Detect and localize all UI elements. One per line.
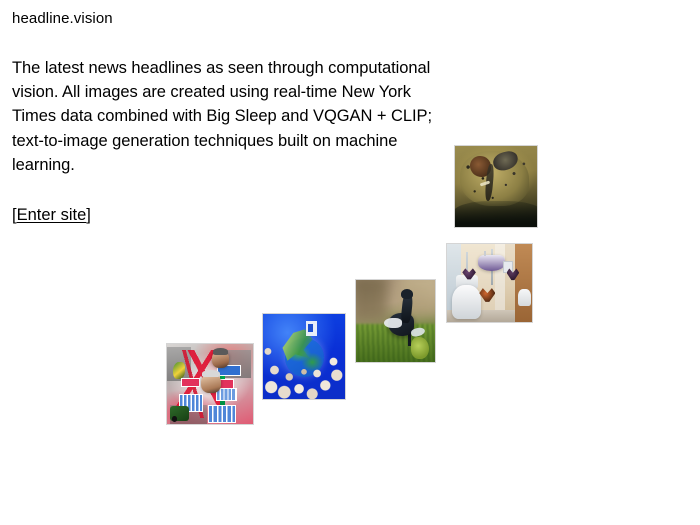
- decor-shape: [170, 406, 189, 420]
- decor-bird-wing: [384, 318, 401, 329]
- decor-face: [212, 350, 229, 368]
- intro-text-column: headline.vision The latest news headline…: [12, 8, 442, 227]
- gallery-thumb-2[interactable]: [262, 313, 346, 400]
- gallery-thumb-1[interactable]: [166, 343, 254, 425]
- enter-site-label: Enter site: [17, 206, 87, 224]
- intro-paragraph: The latest news headlines as seen throug…: [12, 56, 442, 177]
- decor-sink: [478, 255, 505, 271]
- thumb-5-artwork: [455, 146, 537, 227]
- thumb-4-artwork: [447, 244, 532, 322]
- decor-blobs: [263, 314, 345, 399]
- enter-site-line: [Enter site]: [12, 203, 442, 227]
- decor-shape: [208, 405, 236, 423]
- decor-shape: [411, 337, 428, 358]
- gallery-thumb-3[interactable]: [355, 279, 436, 363]
- decor-door: [515, 244, 532, 322]
- page-root: headline.vision The latest news headline…: [0, 0, 700, 525]
- thumb-2-artwork: [263, 314, 345, 399]
- decor-toilet: [518, 289, 531, 306]
- decor-shape: [173, 362, 185, 380]
- decor-face: [201, 373, 221, 393]
- decor-bird-head: [401, 289, 413, 299]
- enter-site-link[interactable]: [Enter site]: [12, 206, 91, 224]
- decor-shape: [181, 378, 200, 387]
- page-title: headline.vision: [12, 8, 442, 30]
- gallery-thumb-5[interactable]: [454, 145, 538, 228]
- gallery-thumb-4[interactable]: [446, 243, 533, 323]
- decor-toilet: [452, 285, 481, 319]
- decor-shape: [455, 201, 537, 227]
- thumb-1-artwork: [167, 344, 253, 424]
- thumb-3-artwork: [356, 280, 435, 362]
- decor-shape: [356, 280, 388, 323]
- bracket-close: ]: [86, 206, 91, 224]
